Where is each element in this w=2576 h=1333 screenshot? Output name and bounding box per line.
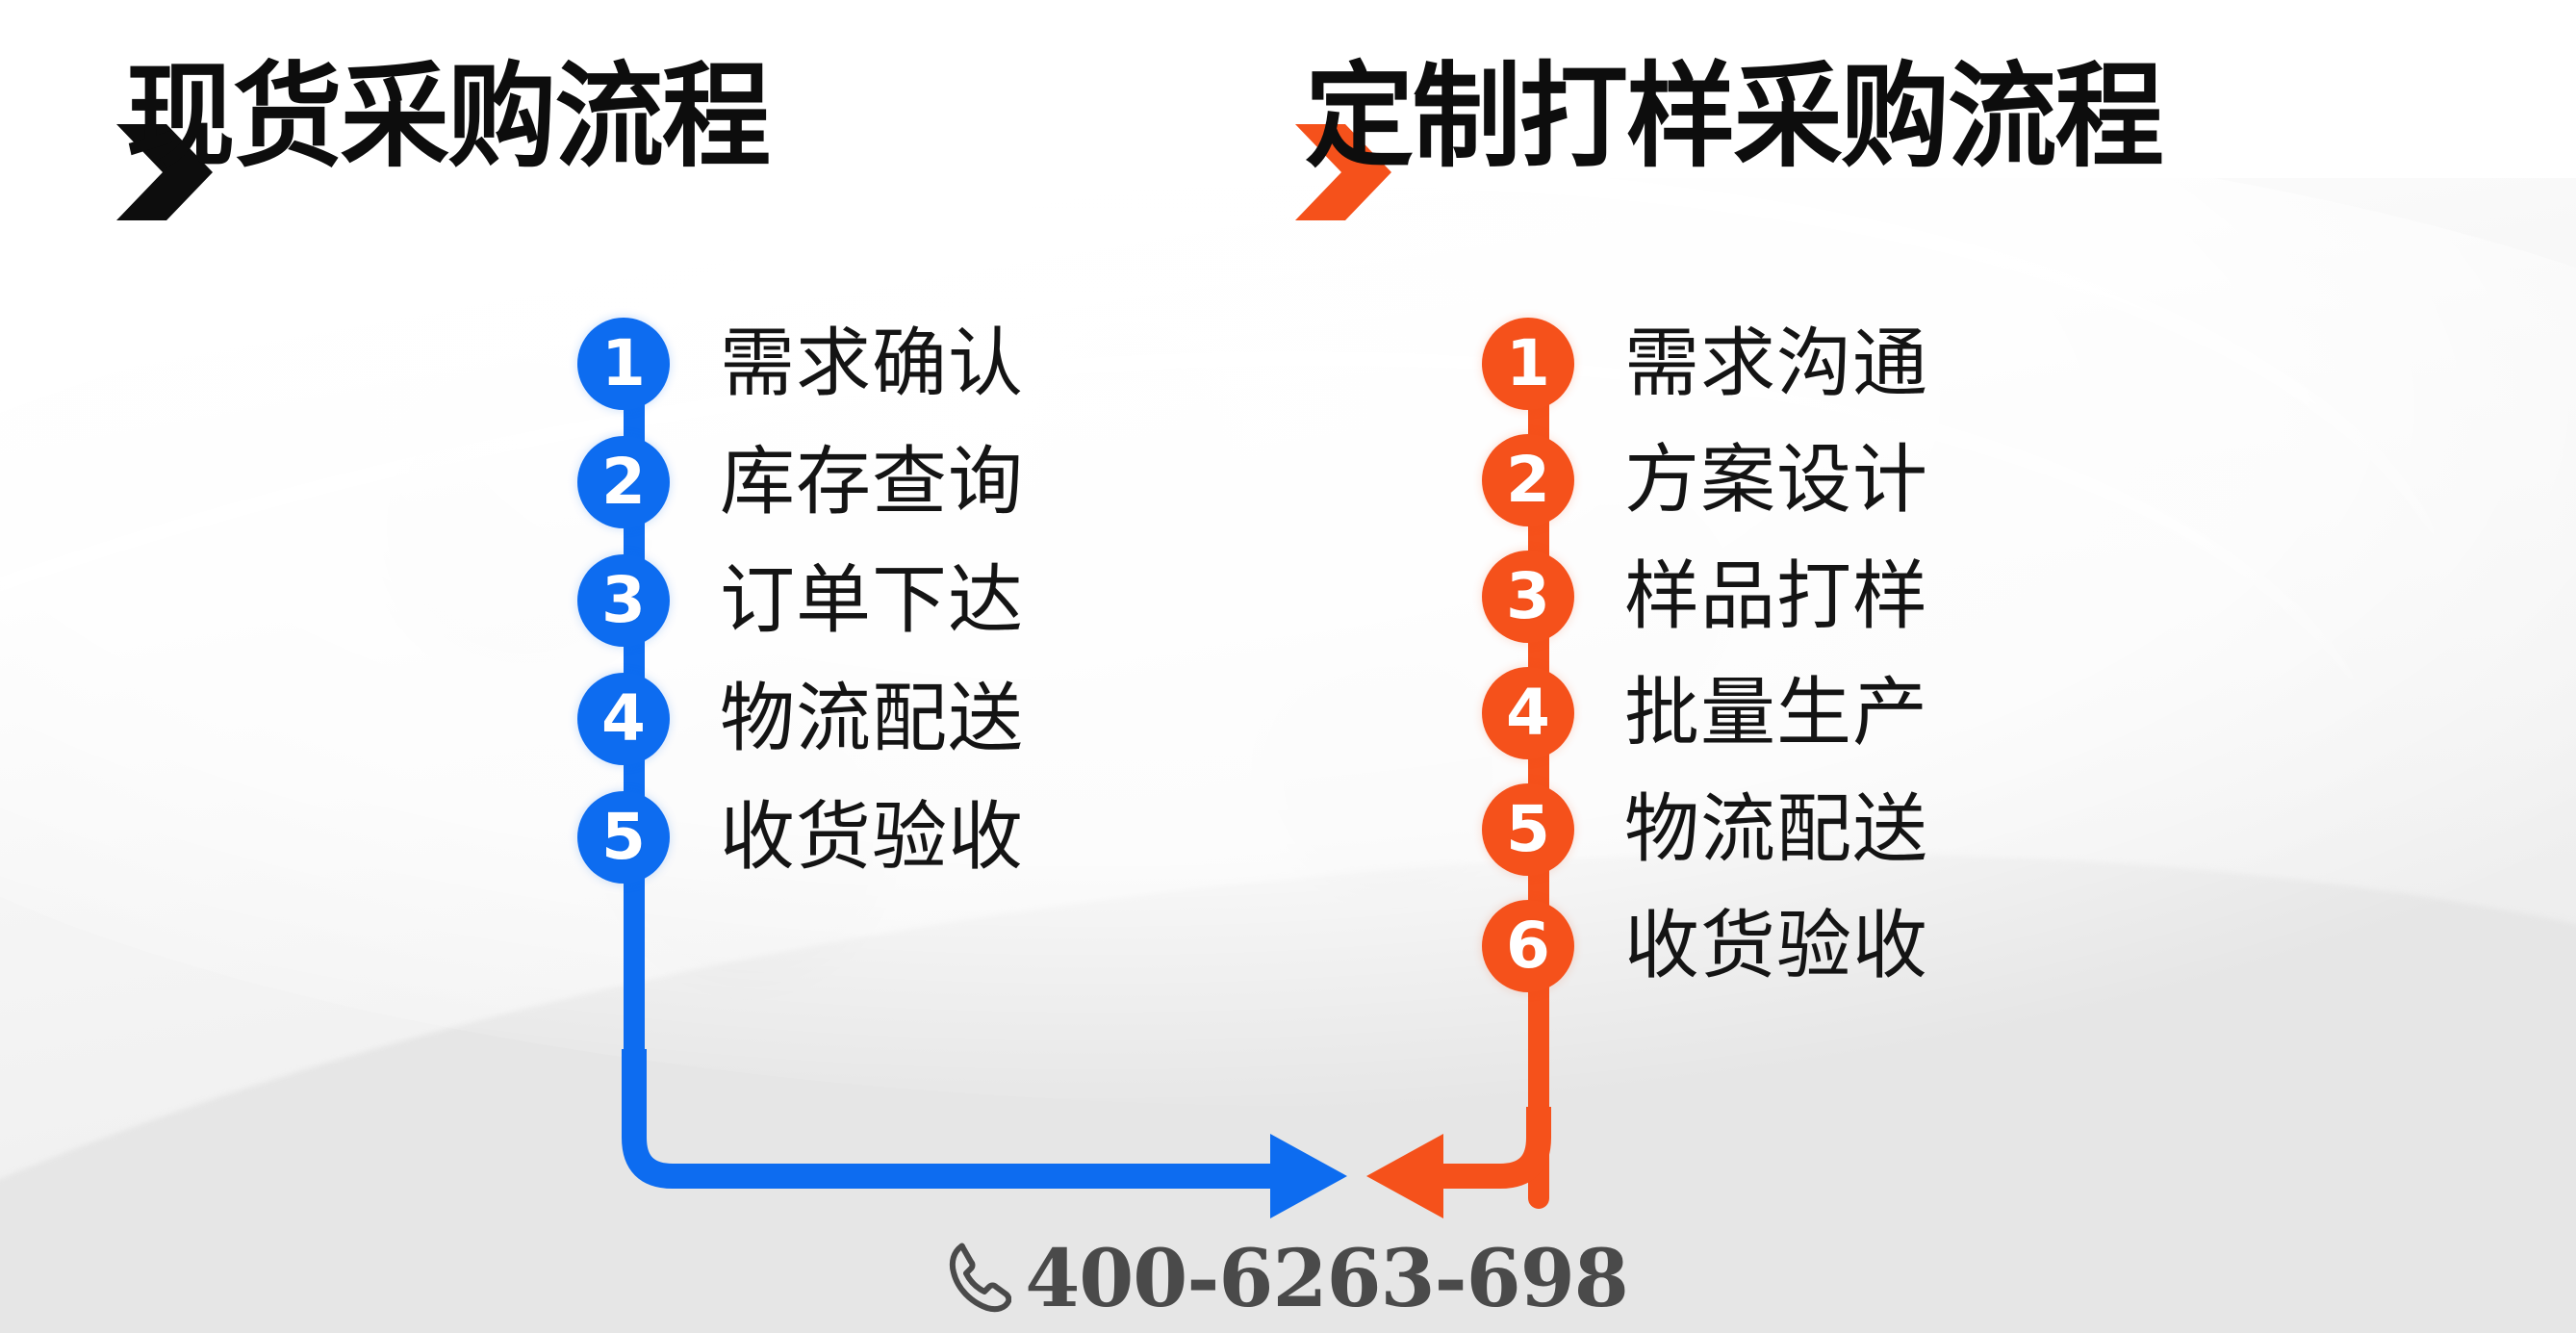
heading-in-stock: 现货采购流程 xyxy=(111,60,796,173)
step-label: 物流配送 xyxy=(1624,792,1928,867)
flow-step[interactable]: 1 需求确认 xyxy=(577,318,1024,410)
step-number-badge: 5 xyxy=(577,791,670,884)
step-number-badge: 1 xyxy=(1482,318,1574,410)
step-label: 样品打样 xyxy=(1624,559,1928,634)
step-number-badge: 6 xyxy=(1482,900,1574,992)
flow-step[interactable]: 5 物流配送 xyxy=(1482,783,1928,876)
step-number-badge: 2 xyxy=(577,436,670,528)
step-label: 批量生产 xyxy=(1624,676,1928,751)
flow-step[interactable]: 3 样品打样 xyxy=(1482,551,1928,643)
flow-step[interactable]: 2 方案设计 xyxy=(1482,434,1928,526)
heading-custom-sample-title: 定制打样采购流程 xyxy=(1305,60,2162,173)
step-number-badge: 1 xyxy=(577,318,670,410)
step-label: 方案设计 xyxy=(1624,443,1928,518)
flow-step[interactable]: 1 需求沟通 xyxy=(1482,318,1928,410)
step-number-badge: 4 xyxy=(577,673,670,765)
flow-arrow-left-head xyxy=(1366,1134,1443,1218)
step-label: 物流配送 xyxy=(720,681,1024,756)
flow-column-in-stock: 1 需求确认 2 库存查询 3 订单下达 4 物流配送 5 收货验收 xyxy=(577,318,1024,910)
background-sheen-ellipse xyxy=(0,107,2576,1107)
flow-column-custom-sample: 1 需求沟通 2 方案设计 3 样品打样 4 批量生产 5 物流配送 6 收货验… xyxy=(1482,318,1928,1016)
background-swoosh-upper xyxy=(0,0,2538,1333)
flow-step[interactable]: 3 订单下达 xyxy=(577,554,1024,647)
step-number-badge: 4 xyxy=(1482,667,1574,759)
step-label: 库存查询 xyxy=(720,445,1024,520)
flow-step[interactable]: 5 收货验收 xyxy=(577,791,1024,884)
flow-arrow-left-shaft xyxy=(1434,1107,1539,1176)
background-base xyxy=(0,0,2576,1333)
phone-number-text: 400-6263-698 xyxy=(1025,1240,1628,1319)
flow-step[interactable]: 4 物流配送 xyxy=(577,673,1024,765)
step-label: 需求确认 xyxy=(720,326,1024,401)
flow-step[interactable]: 4 批量生产 xyxy=(1482,667,1928,759)
step-label: 订单下达 xyxy=(720,563,1024,638)
flow-step[interactable]: 2 库存查询 xyxy=(577,436,1024,528)
step-number-badge: 5 xyxy=(1482,783,1574,876)
infographic-canvas: 现货采购流程 定制打样采购流程 1 需求确认 2 库存查询 3 订单下达 4 xyxy=(0,0,2576,1333)
heading-custom-sample: 定制打样采购流程 xyxy=(1289,60,2198,173)
headings-row: 现货采购流程 定制打样采购流程 xyxy=(0,60,2576,185)
step-label: 收货验收 xyxy=(720,800,1024,875)
flow-connectors xyxy=(0,0,2576,1333)
contact-phone[interactable]: 400-6263-698 xyxy=(0,1240,2576,1319)
background-decor xyxy=(0,0,2576,1333)
step-number-badge: 3 xyxy=(1482,551,1574,643)
flow-arrow-right-shaft xyxy=(634,1049,1280,1176)
step-number-badge: 3 xyxy=(577,554,670,647)
phone-handset-icon xyxy=(948,1241,1011,1319)
flow-arrow-right-head xyxy=(1270,1134,1347,1218)
step-label: 需求沟通 xyxy=(1624,326,1928,401)
flow-step[interactable]: 6 收货验收 xyxy=(1482,900,1928,992)
background-swoosh-lower xyxy=(0,119,2513,1333)
step-label: 收货验收 xyxy=(1624,909,1928,984)
step-number-badge: 2 xyxy=(1482,434,1574,526)
heading-in-stock-title: 现货采购流程 xyxy=(126,60,769,173)
